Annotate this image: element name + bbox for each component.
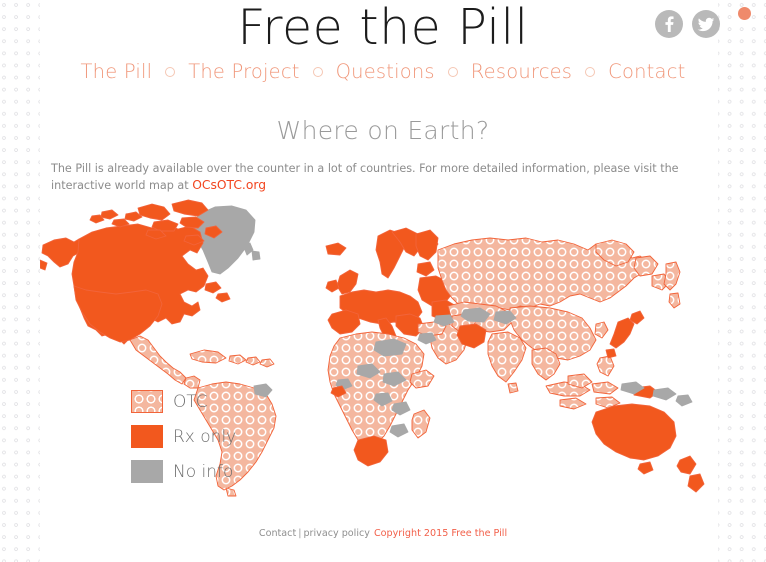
legend-swatch-otc: [131, 390, 163, 413]
facebook-icon[interactable]: [655, 10, 683, 38]
main-navigation: The Pill The Project Questions Resources…: [0, 60, 766, 83]
nav-separator-dot: [165, 67, 175, 77]
nav-item-resources[interactable]: Resources: [471, 60, 572, 83]
ocsotc-link[interactable]: OCsOTC.org: [192, 178, 266, 192]
footer-privacy-link[interactable]: privacy policy: [303, 528, 370, 539]
footer-contact-link[interactable]: Contact: [259, 528, 296, 539]
social-links: [655, 10, 720, 38]
nav-separator-dot: [585, 67, 595, 77]
legend-label-noinfo: No info: [173, 462, 233, 482]
legend-swatch-rx: [131, 425, 163, 448]
nav-item-the-pill[interactable]: The Pill: [81, 60, 153, 83]
page-title: Where on Earth?: [0, 116, 766, 145]
nav-item-questions[interactable]: Questions: [336, 60, 435, 83]
site-logo[interactable]: Free the Pill: [0, 0, 766, 58]
map-legend: OTC Rx only No info: [131, 390, 236, 483]
nav-separator-dot: [313, 67, 323, 77]
legend-label-otc: OTC: [173, 392, 208, 412]
site-logo-text: Free the Pill: [237, 0, 528, 56]
legend-item-rx[interactable]: Rx only: [131, 425, 236, 448]
legend-label-rx: Rx only: [173, 427, 236, 447]
site-header: Free the Pill The Pill The Project Quest…: [0, 0, 766, 96]
legend-swatch-noinfo: [131, 460, 163, 483]
footer-separator: |: [298, 528, 301, 539]
intro-paragraph: The Pill is already available over the c…: [51, 160, 717, 194]
footer-copyright: Copyright 2015 Free the Pill: [374, 528, 507, 539]
legend-item-noinfo[interactable]: No info: [131, 460, 236, 483]
nav-item-contact[interactable]: Contact: [608, 60, 685, 83]
site-footer: Contact|privacy policyCopyright 2015 Fre…: [0, 528, 766, 539]
twitter-icon[interactable]: [692, 10, 720, 38]
nav-separator-dot: [448, 67, 458, 77]
legend-item-otc[interactable]: OTC: [131, 390, 236, 413]
pill-dot-icon: [738, 7, 751, 20]
nav-item-the-project[interactable]: The Project: [188, 60, 299, 83]
intro-text: The Pill is already available over the c…: [51, 162, 679, 192]
